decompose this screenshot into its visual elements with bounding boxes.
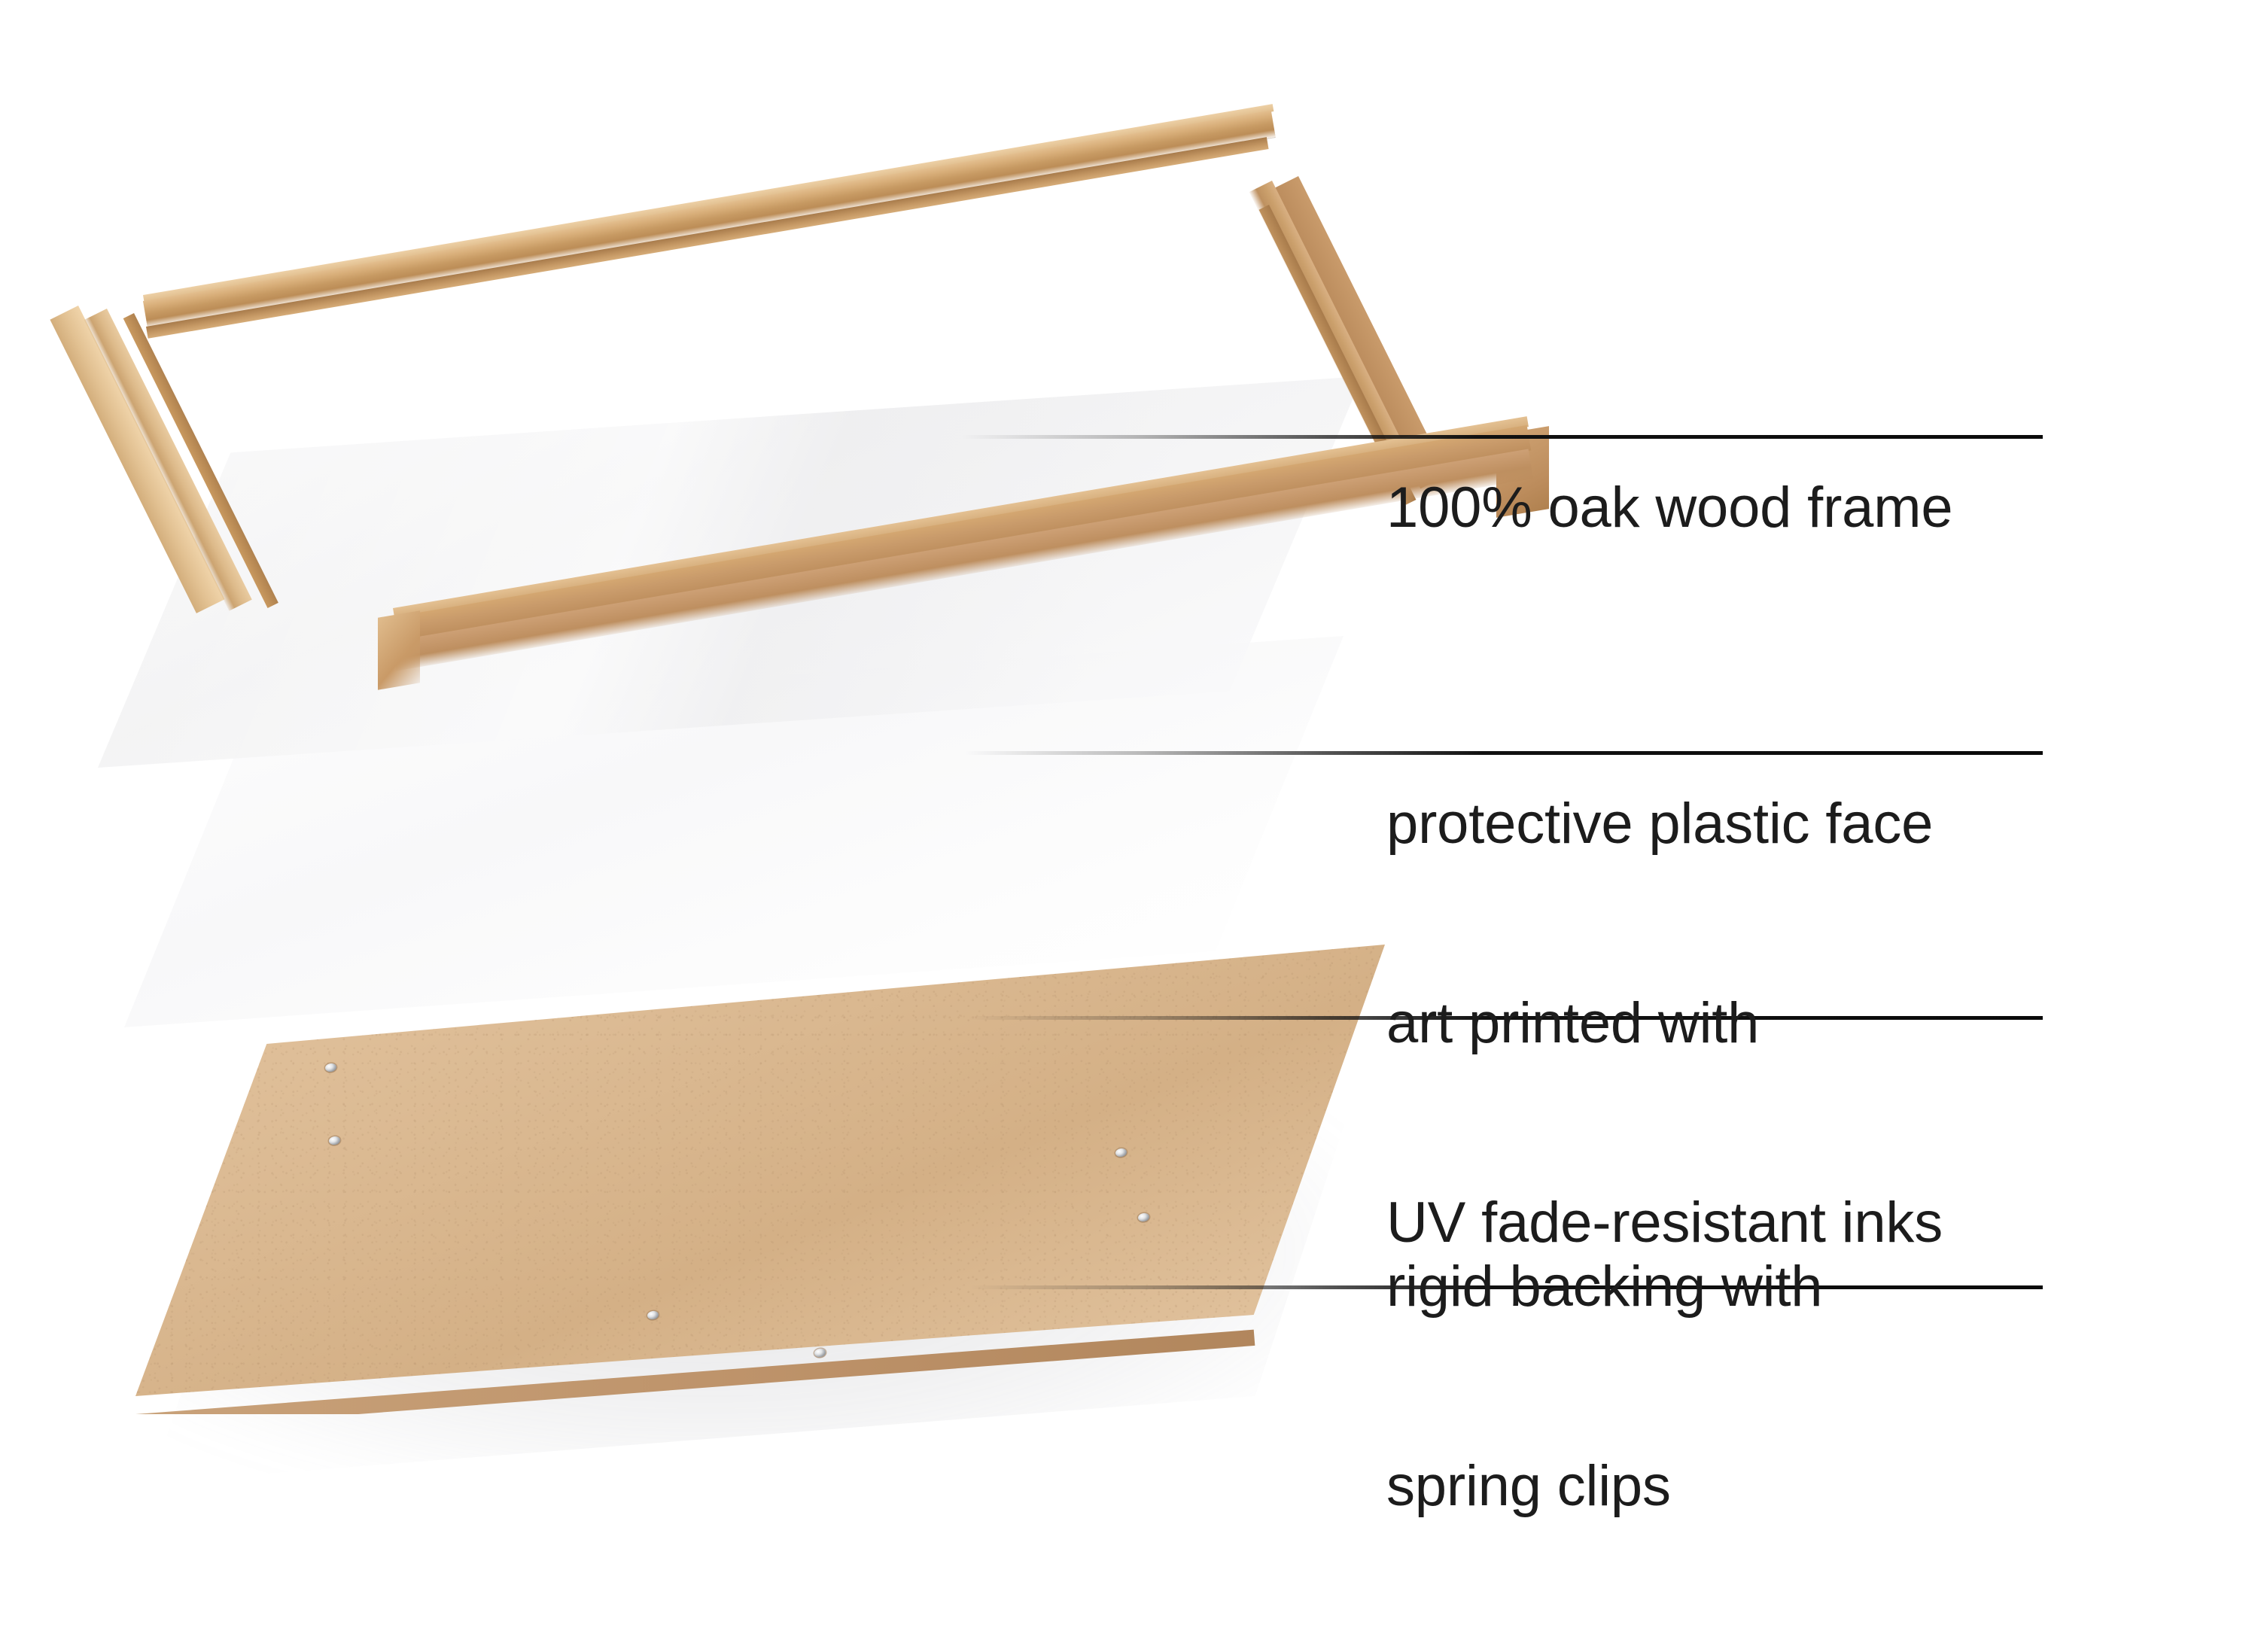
callout-backing-line-2: spring clips [1386, 1453, 1822, 1520]
oak-wood-frame [113, 166, 1438, 489]
callout-frame-line-1: 100% oak wood frame [1386, 475, 1952, 541]
frame-rail-top [143, 111, 1276, 328]
frame-rail-top-rabbet [146, 137, 1269, 339]
frame-corner-bottom-left [378, 610, 420, 689]
callout-rigid-backing: rigid backing with spring clips [1386, 1121, 1822, 1652]
product-illustration [0, 0, 1505, 1613]
callout-oak-wood-frame: 100% oak wood frame [1386, 342, 1952, 674]
frame-rail-left [84, 309, 252, 611]
callout-backing-line-1: rigid backing with [1386, 1254, 1822, 1320]
callout-plastic-line-1: protective plastic face [1386, 791, 1933, 857]
callout-print-line-1: art printed with [1386, 990, 1943, 1057]
exploded-diagram-canvas: 100% oak wood frame protective plastic f… [0, 0, 2258, 1613]
